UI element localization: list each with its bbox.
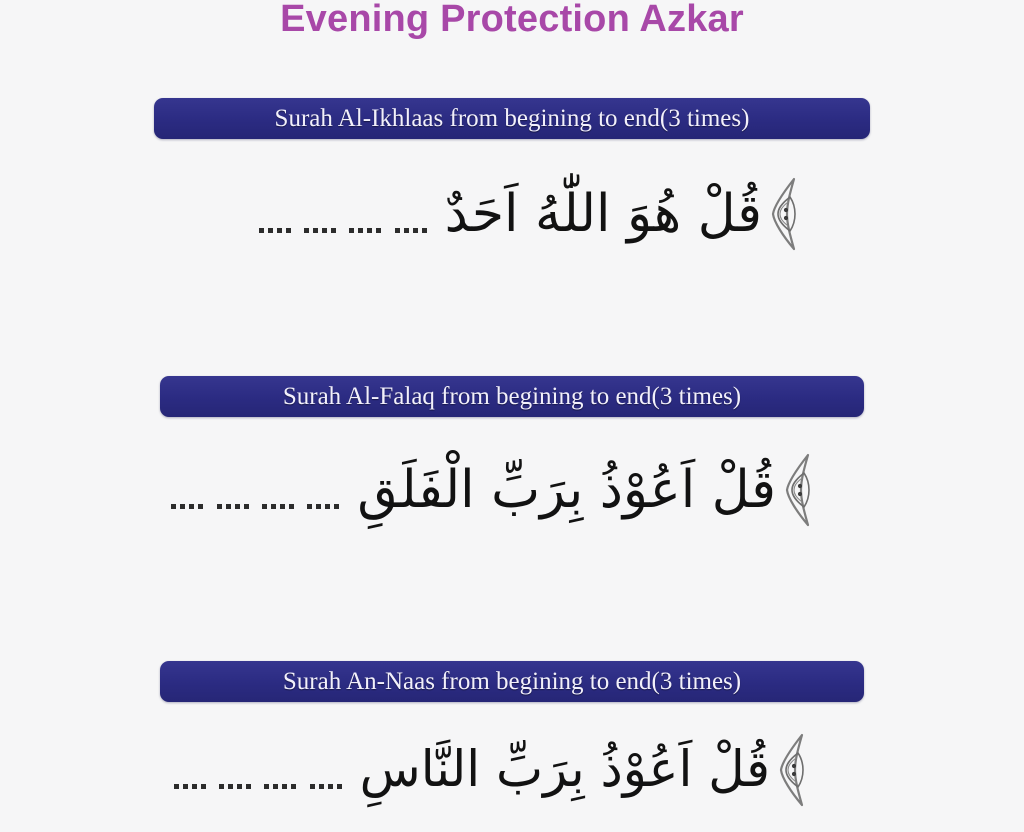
banner-row: Surah An-Naas from begining to end(3 tim… (0, 661, 1024, 702)
verse-arabic-al-ikhlaas: قُلْ هُوَ اللّٰهُ اَحَدٌ (445, 175, 762, 253)
verse-arabic-al-falaq: قُلْ اَعُوْذُ بِرَبِّ الْفَلَقِ (357, 451, 776, 529)
page-title: Evening Protection Azkar (0, 0, 1024, 42)
azkar-section-an-naas: Surah An-Naas from begining to end(3 tim… (0, 661, 1024, 807)
ayah-ornament-icon (776, 733, 810, 807)
surah-banner-al-ikhlaas[interactable]: Surah Al-Ikhlaas from begining to end(3 … (154, 98, 870, 139)
continuation-dots (259, 224, 431, 234)
surah-banner-al-falaq[interactable]: Surah Al-Falaq from begining to end(3 ti… (160, 376, 864, 417)
verse-row: قُلْ هُوَ اللّٰهُ اَحَدٌ (0, 175, 1024, 253)
azkar-section-al-falaq: Surah Al-Falaq from begining to end(3 ti… (0, 376, 1024, 529)
verse-row: قُلْ اَعُوْذُ بِرَبِّ النَّاسِ (0, 732, 1024, 807)
ayah-ornament-icon (782, 453, 816, 527)
banner-row: Surah Al-Ikhlaas from begining to end(3 … (0, 98, 1024, 139)
surah-banner-label: Surah Al-Falaq from begining to end(3 ti… (283, 383, 741, 410)
continuation-dots (174, 780, 346, 790)
banner-row: Surah Al-Falaq from begining to end(3 ti… (0, 376, 1024, 417)
surah-banner-label: Surah An-Naas from begining to end(3 tim… (283, 668, 741, 695)
azkar-section-al-ikhlaas: Surah Al-Ikhlaas from begining to end(3 … (0, 98, 1024, 253)
verse-row: قُلْ اَعُوْذُ بِرَبِّ الْفَلَقِ (0, 451, 1024, 529)
surah-banner-an-naas[interactable]: Surah An-Naas from begining to end(3 tim… (160, 661, 864, 702)
verse-arabic-an-naas: قُلْ اَعُوْذُ بِرَبِّ النَّاسِ (360, 732, 770, 807)
surah-banner-label: Surah Al-Ikhlaas from begining to end(3 … (275, 105, 750, 132)
continuation-dots (171, 500, 343, 510)
ayah-ornament-icon (768, 177, 802, 251)
